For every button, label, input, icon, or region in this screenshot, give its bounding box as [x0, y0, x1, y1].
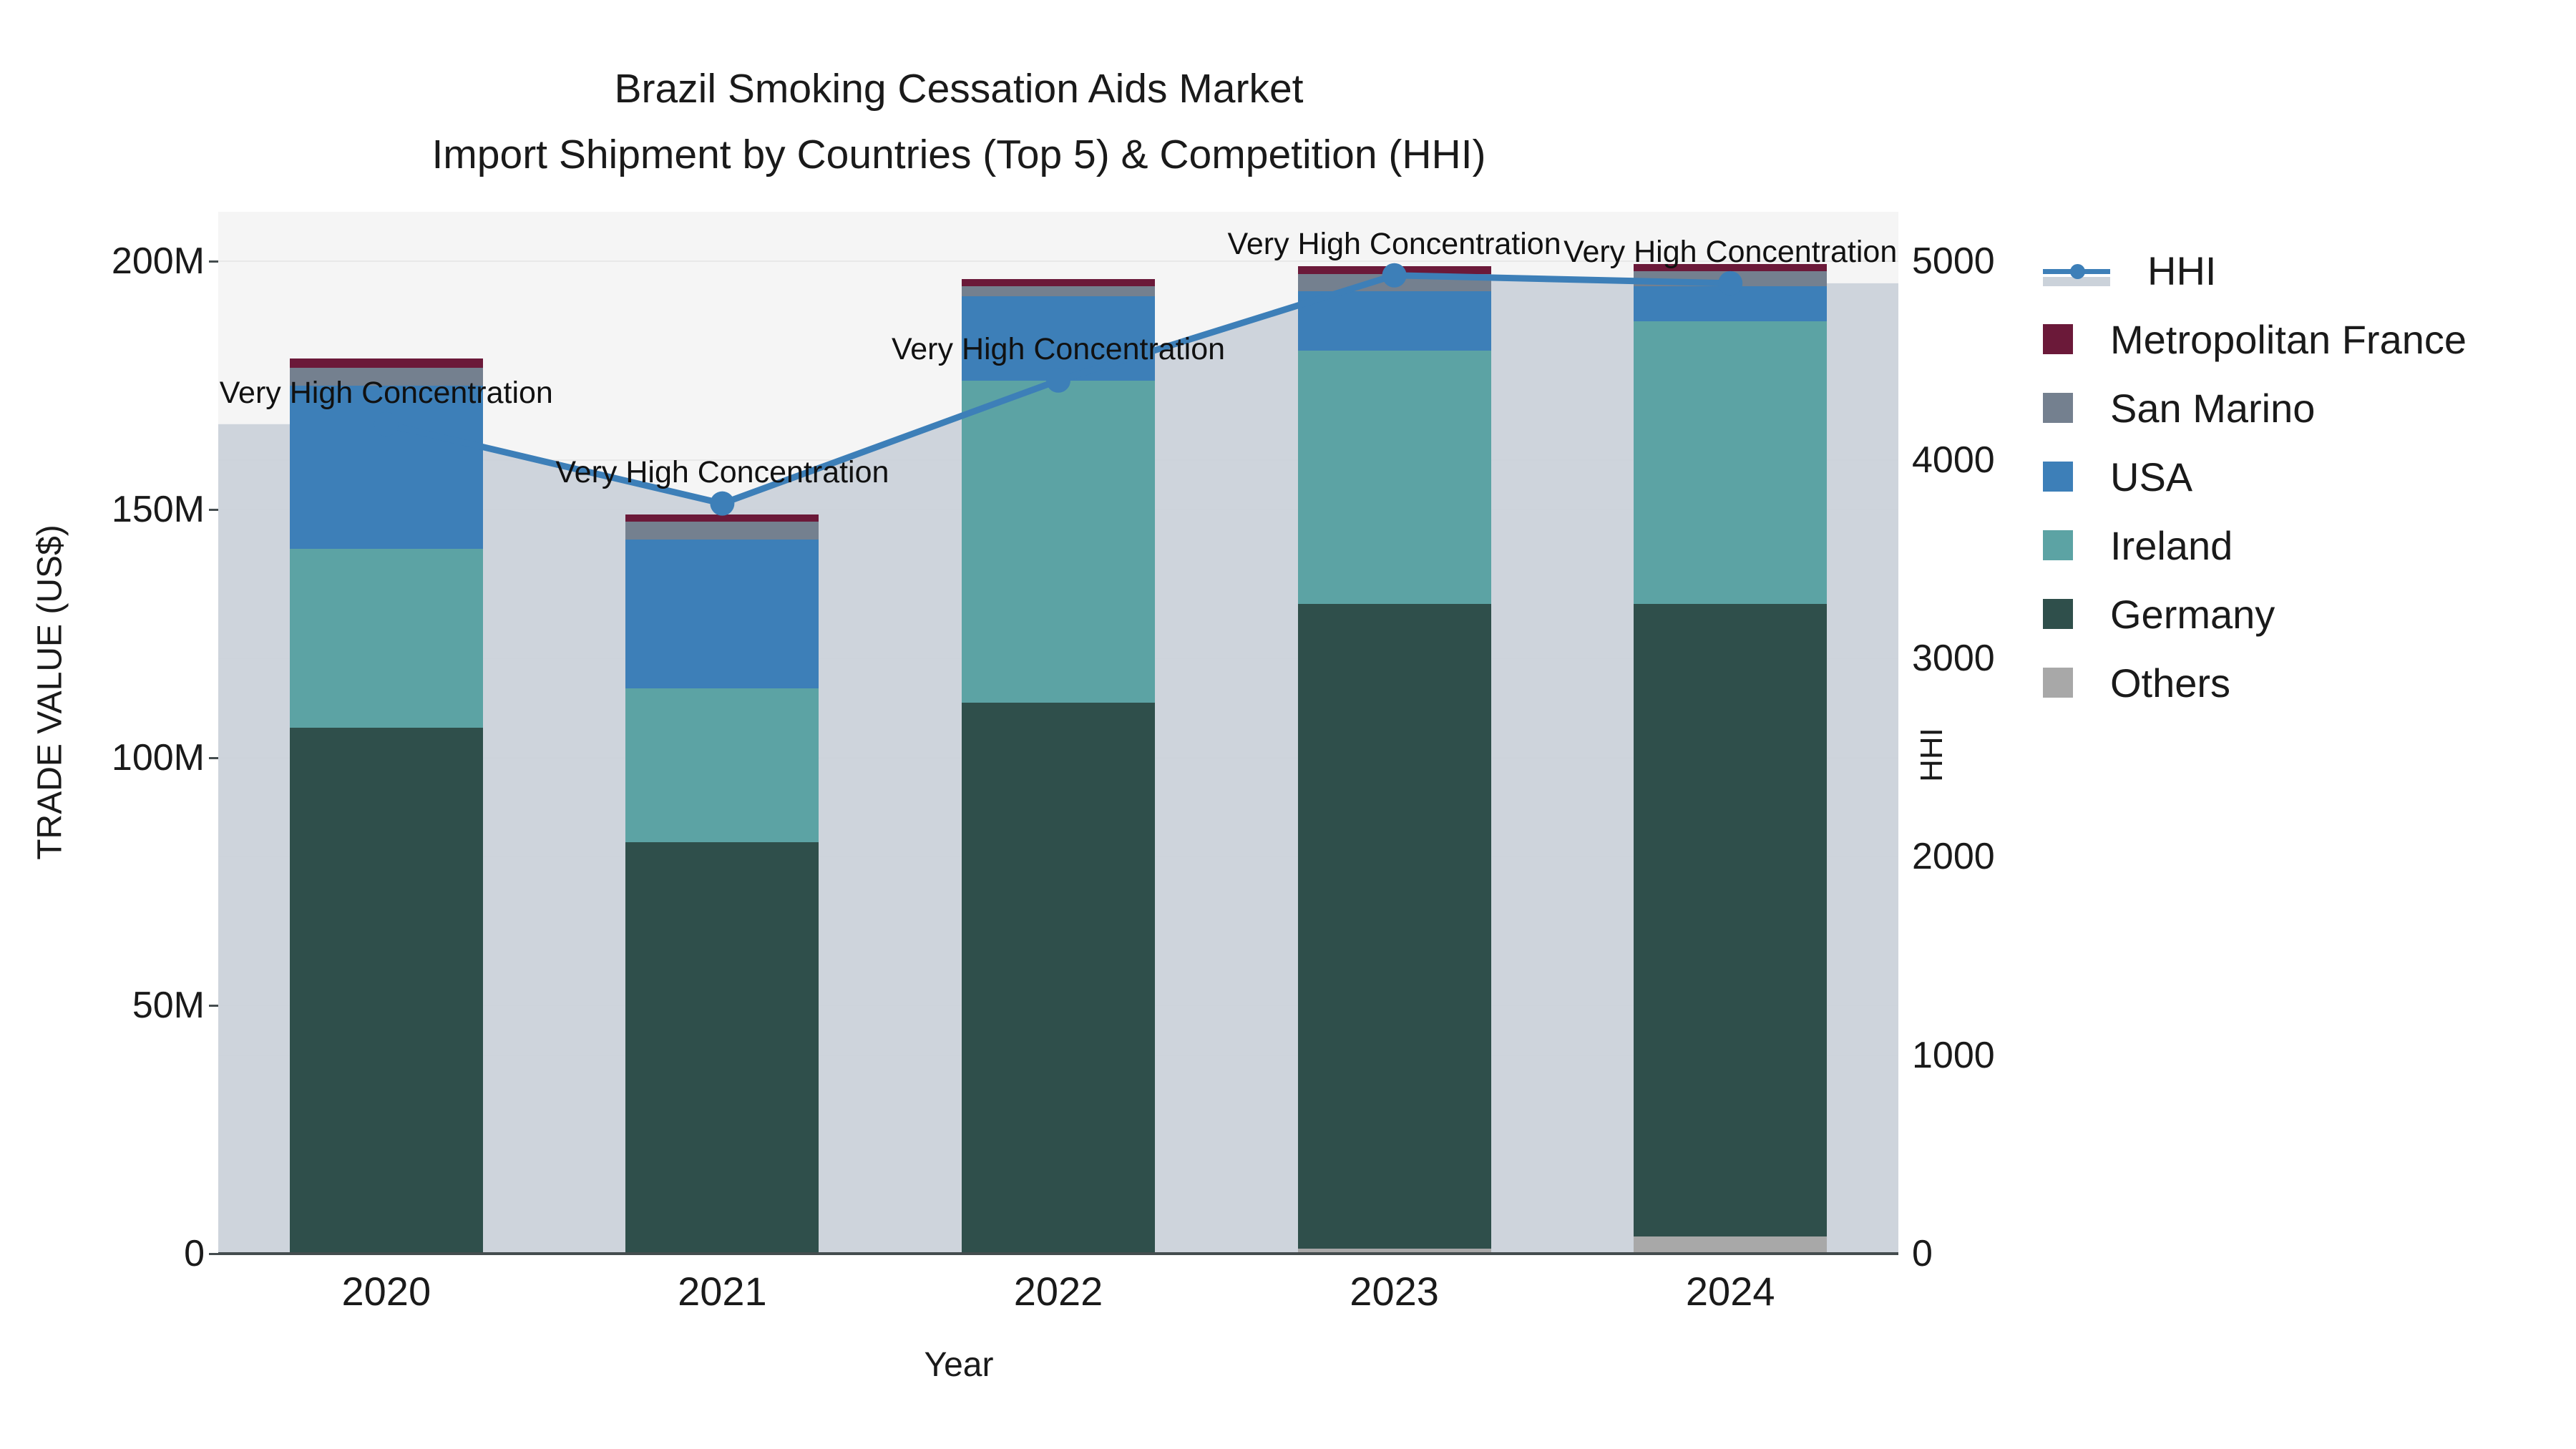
bar-segment-2021-metropolitan-france	[625, 514, 819, 522]
legend-item-label: Others	[2110, 660, 2230, 706]
bar-segment-2024-usa	[1634, 286, 1827, 321]
legend-item-others[interactable]: Others	[2043, 648, 2544, 717]
bar-segment-2024-san-marino	[1634, 271, 1827, 286]
y-tick-mark-100M	[209, 757, 218, 759]
chart-legend: HHIMetropolitan FranceSan MarinoUSAIrela…	[2043, 236, 2544, 717]
legend-swatch-icon	[2043, 393, 2073, 423]
legend-item-germany[interactable]: Germany	[2043, 580, 2544, 648]
y2-tick-label-4000: 4000	[1912, 439, 1995, 482]
bar-segment-2021-germany	[625, 842, 819, 1254]
y-tick-mark-200M	[209, 260, 218, 263]
bar-segment-2022-ireland	[962, 381, 1155, 703]
legend-swatch-icon	[2043, 324, 2073, 354]
bar-segment-2024-others	[1634, 1236, 1827, 1254]
bar-segment-2024-germany	[1634, 604, 1827, 1236]
annotation-2020: Very High Concentration	[220, 376, 553, 411]
bar-segment-2020-ireland	[290, 549, 483, 728]
legend-item-label: Germany	[2110, 591, 2275, 638]
y-tick-mark-50M	[209, 1005, 218, 1007]
x-tick-label-2020: 2020	[342, 1268, 431, 1314]
legend-item-metropolitan-france[interactable]: Metropolitan France	[2043, 305, 2544, 374]
bar-segment-2020-germany	[290, 728, 483, 1254]
y-tick-mark-150M	[209, 509, 218, 511]
y-tick-label-150M: 150M	[112, 488, 205, 531]
y2-tick-label-5000: 5000	[1912, 240, 1995, 283]
y2-tick-label-1000: 1000	[1912, 1034, 1995, 1077]
legend-item-hhi[interactable]: HHI	[2043, 236, 2544, 305]
bar-segment-2024-ireland	[1634, 321, 1827, 604]
legend-swatch-icon	[2043, 530, 2073, 560]
x-tick-label-2022: 2022	[1014, 1268, 1103, 1314]
legend-item-ireland[interactable]: Ireland	[2043, 511, 2544, 580]
x-axis-line	[218, 1252, 1898, 1255]
bar-segment-2023-germany	[1298, 604, 1491, 1249]
bar-segment-2022-metropolitan-france	[962, 279, 1155, 286]
x-tick-label-2023: 2023	[1350, 1268, 1439, 1314]
bar-segment-2023-usa	[1298, 291, 1491, 351]
bar-segment-2022-san-marino	[962, 286, 1155, 296]
bar-segment-2023-ireland	[1298, 351, 1491, 604]
y2-tick-label-0: 0	[1912, 1232, 1933, 1275]
legend-item-usa[interactable]: USA	[2043, 442, 2544, 511]
legend-swatch-icon	[2043, 599, 2073, 629]
bar-segment-2022-germany	[962, 703, 1155, 1254]
bar-segment-2023-metropolitan-france	[1298, 266, 1491, 273]
legend-item-label: Metropolitan France	[2110, 316, 2467, 363]
x-tick-label-2024: 2024	[1686, 1268, 1775, 1314]
y-axis-left-label: TRADE VALUE (US$)	[31, 406, 70, 979]
y-axis-right-label: HHI	[1914, 612, 1950, 898]
legend-line-marker-icon	[2043, 255, 2110, 286]
bar-segment-2020-metropolitan-france	[290, 358, 483, 369]
bar-segment-2021-ireland	[625, 688, 819, 842]
legend-swatch-icon	[2043, 668, 2073, 698]
legend-item-label: Ireland	[2110, 522, 2233, 569]
y-tick-label-200M: 200M	[112, 240, 205, 283]
x-tick-label-2021: 2021	[678, 1268, 767, 1314]
legend-item-label: San Marino	[2110, 385, 2315, 431]
legend-swatch-icon	[2043, 462, 2073, 492]
y-tick-mark-0	[209, 1253, 218, 1255]
legend-item-san-marino[interactable]: San Marino	[2043, 374, 2544, 442]
bar-segment-2023-san-marino	[1298, 274, 1491, 291]
y-tick-label-0: 0	[184, 1232, 205, 1275]
bar-segment-2021-san-marino	[625, 522, 819, 539]
annotation-2022: Very High Concentration	[892, 332, 1225, 367]
legend-item-label: HHI	[2147, 248, 2216, 294]
y-tick-label-50M: 50M	[132, 984, 205, 1027]
chart-canvas: Brazil Smoking Cessation Aids Market Imp…	[0, 0, 2576, 1449]
x-axis-label: Year	[0, 1345, 1918, 1385]
bar-segment-2021-usa	[625, 540, 819, 688]
annotation-2021: Very High Concentration	[555, 455, 889, 490]
annotation-2024: Very High Concentration	[1563, 235, 1897, 270]
y-tick-label-100M: 100M	[112, 736, 205, 779]
legend-item-label: USA	[2110, 454, 2192, 500]
annotation-2023: Very High Concentration	[1228, 227, 1561, 262]
